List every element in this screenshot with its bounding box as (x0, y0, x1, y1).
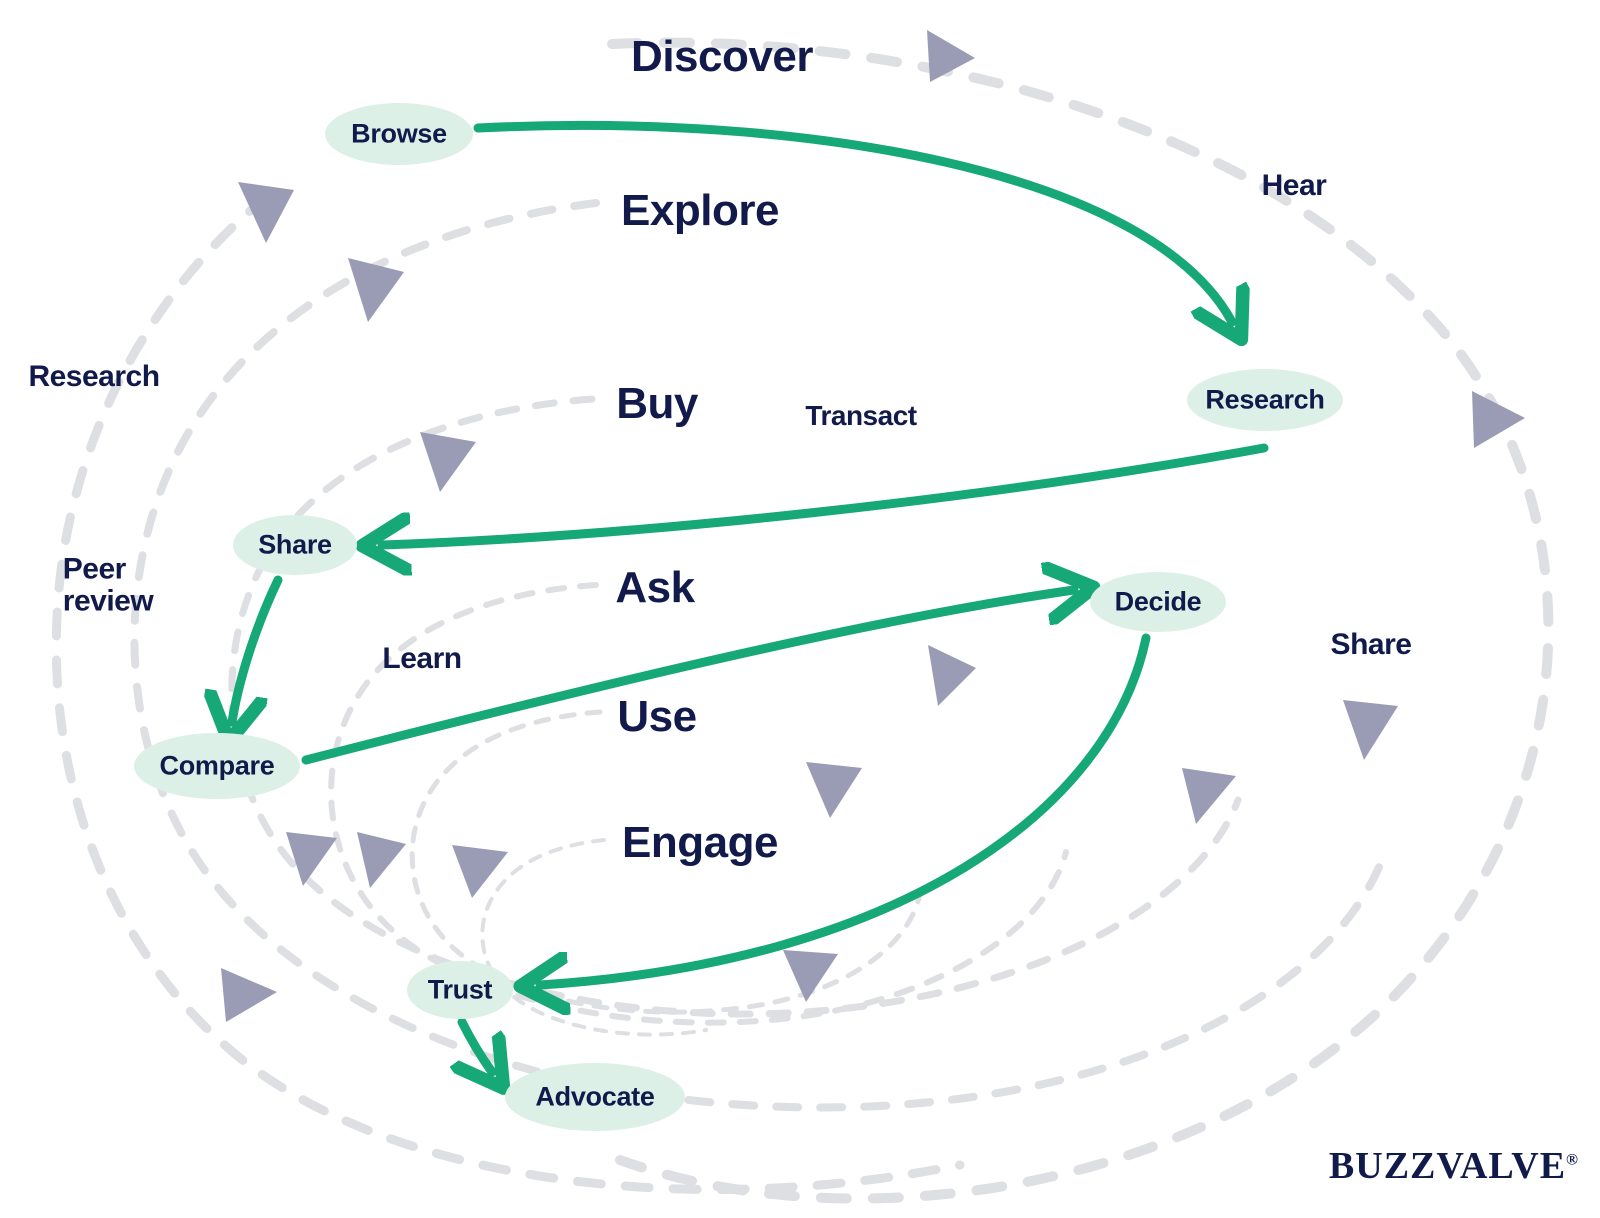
node-browse[interactable] (325, 103, 473, 165)
direction-marker-icon (1472, 391, 1525, 448)
diagram-svg (0, 0, 1600, 1218)
direction-marker-icon (221, 968, 277, 1022)
diagram-canvas: Browse Research Share Decide Compare Tru… (0, 0, 1600, 1218)
flow-arrow-decide-to-trust (540, 638, 1146, 985)
node-research[interactable] (1187, 369, 1343, 431)
direction-marker-icon (286, 832, 337, 886)
touchpoint-label-hear: Hear (1262, 169, 1327, 203)
spiral-ring-2 (56, 196, 960, 1189)
node-share[interactable] (233, 515, 357, 575)
touchpoint-label-transact: Transact (805, 400, 916, 432)
stage-label-buy: Buy (616, 379, 698, 429)
touchpoint-label-learn: Learn (382, 642, 461, 676)
touchpoint-label-peer-review-line1: Peer (63, 554, 153, 586)
stage-label-explore: Explore (621, 186, 779, 236)
brand-logo: BUZZVALVE® (1329, 1144, 1578, 1188)
node-compare[interactable] (134, 733, 300, 799)
touchpoint-label-share: Share (1331, 628, 1412, 662)
direction-marker-icon (928, 645, 976, 706)
direction-marker-icon (357, 832, 406, 888)
direction-markers (221, 30, 1525, 1022)
flow-arrow-browse-to-research (478, 125, 1232, 322)
direction-marker-icon (348, 258, 404, 322)
touchpoint-label-peer-review-line2: review (63, 585, 153, 617)
direction-marker-icon (806, 762, 862, 818)
stage-label-ask: Ask (615, 563, 694, 613)
registered-trademark-icon: ® (1566, 1151, 1578, 1168)
node-decide[interactable] (1090, 572, 1226, 632)
stage-label-engage: Engage (622, 818, 778, 868)
node-trust[interactable] (407, 961, 513, 1019)
flow-arrow-trust-to-advocate (462, 1022, 492, 1072)
flow-arrow-research-to-share (382, 448, 1264, 545)
direction-marker-icon (783, 950, 838, 1002)
touchpoint-label-peer-review: Peer review (63, 554, 153, 617)
node-advocate[interactable] (505, 1063, 685, 1131)
brand-logo-name: BUZZVALVE (1329, 1145, 1566, 1187)
touchpoint-label-research: Research (28, 360, 159, 394)
direction-marker-icon (1182, 768, 1236, 824)
stage-label-use: Use (617, 692, 696, 742)
direction-marker-icon (420, 432, 476, 492)
spiral-ring-3 (134, 203, 1382, 1107)
flow-arrow-share-to-compare (232, 580, 278, 722)
stage-label-discover: Discover (631, 32, 813, 82)
direction-marker-icon (452, 845, 508, 898)
direction-marker-icon (1343, 700, 1398, 760)
